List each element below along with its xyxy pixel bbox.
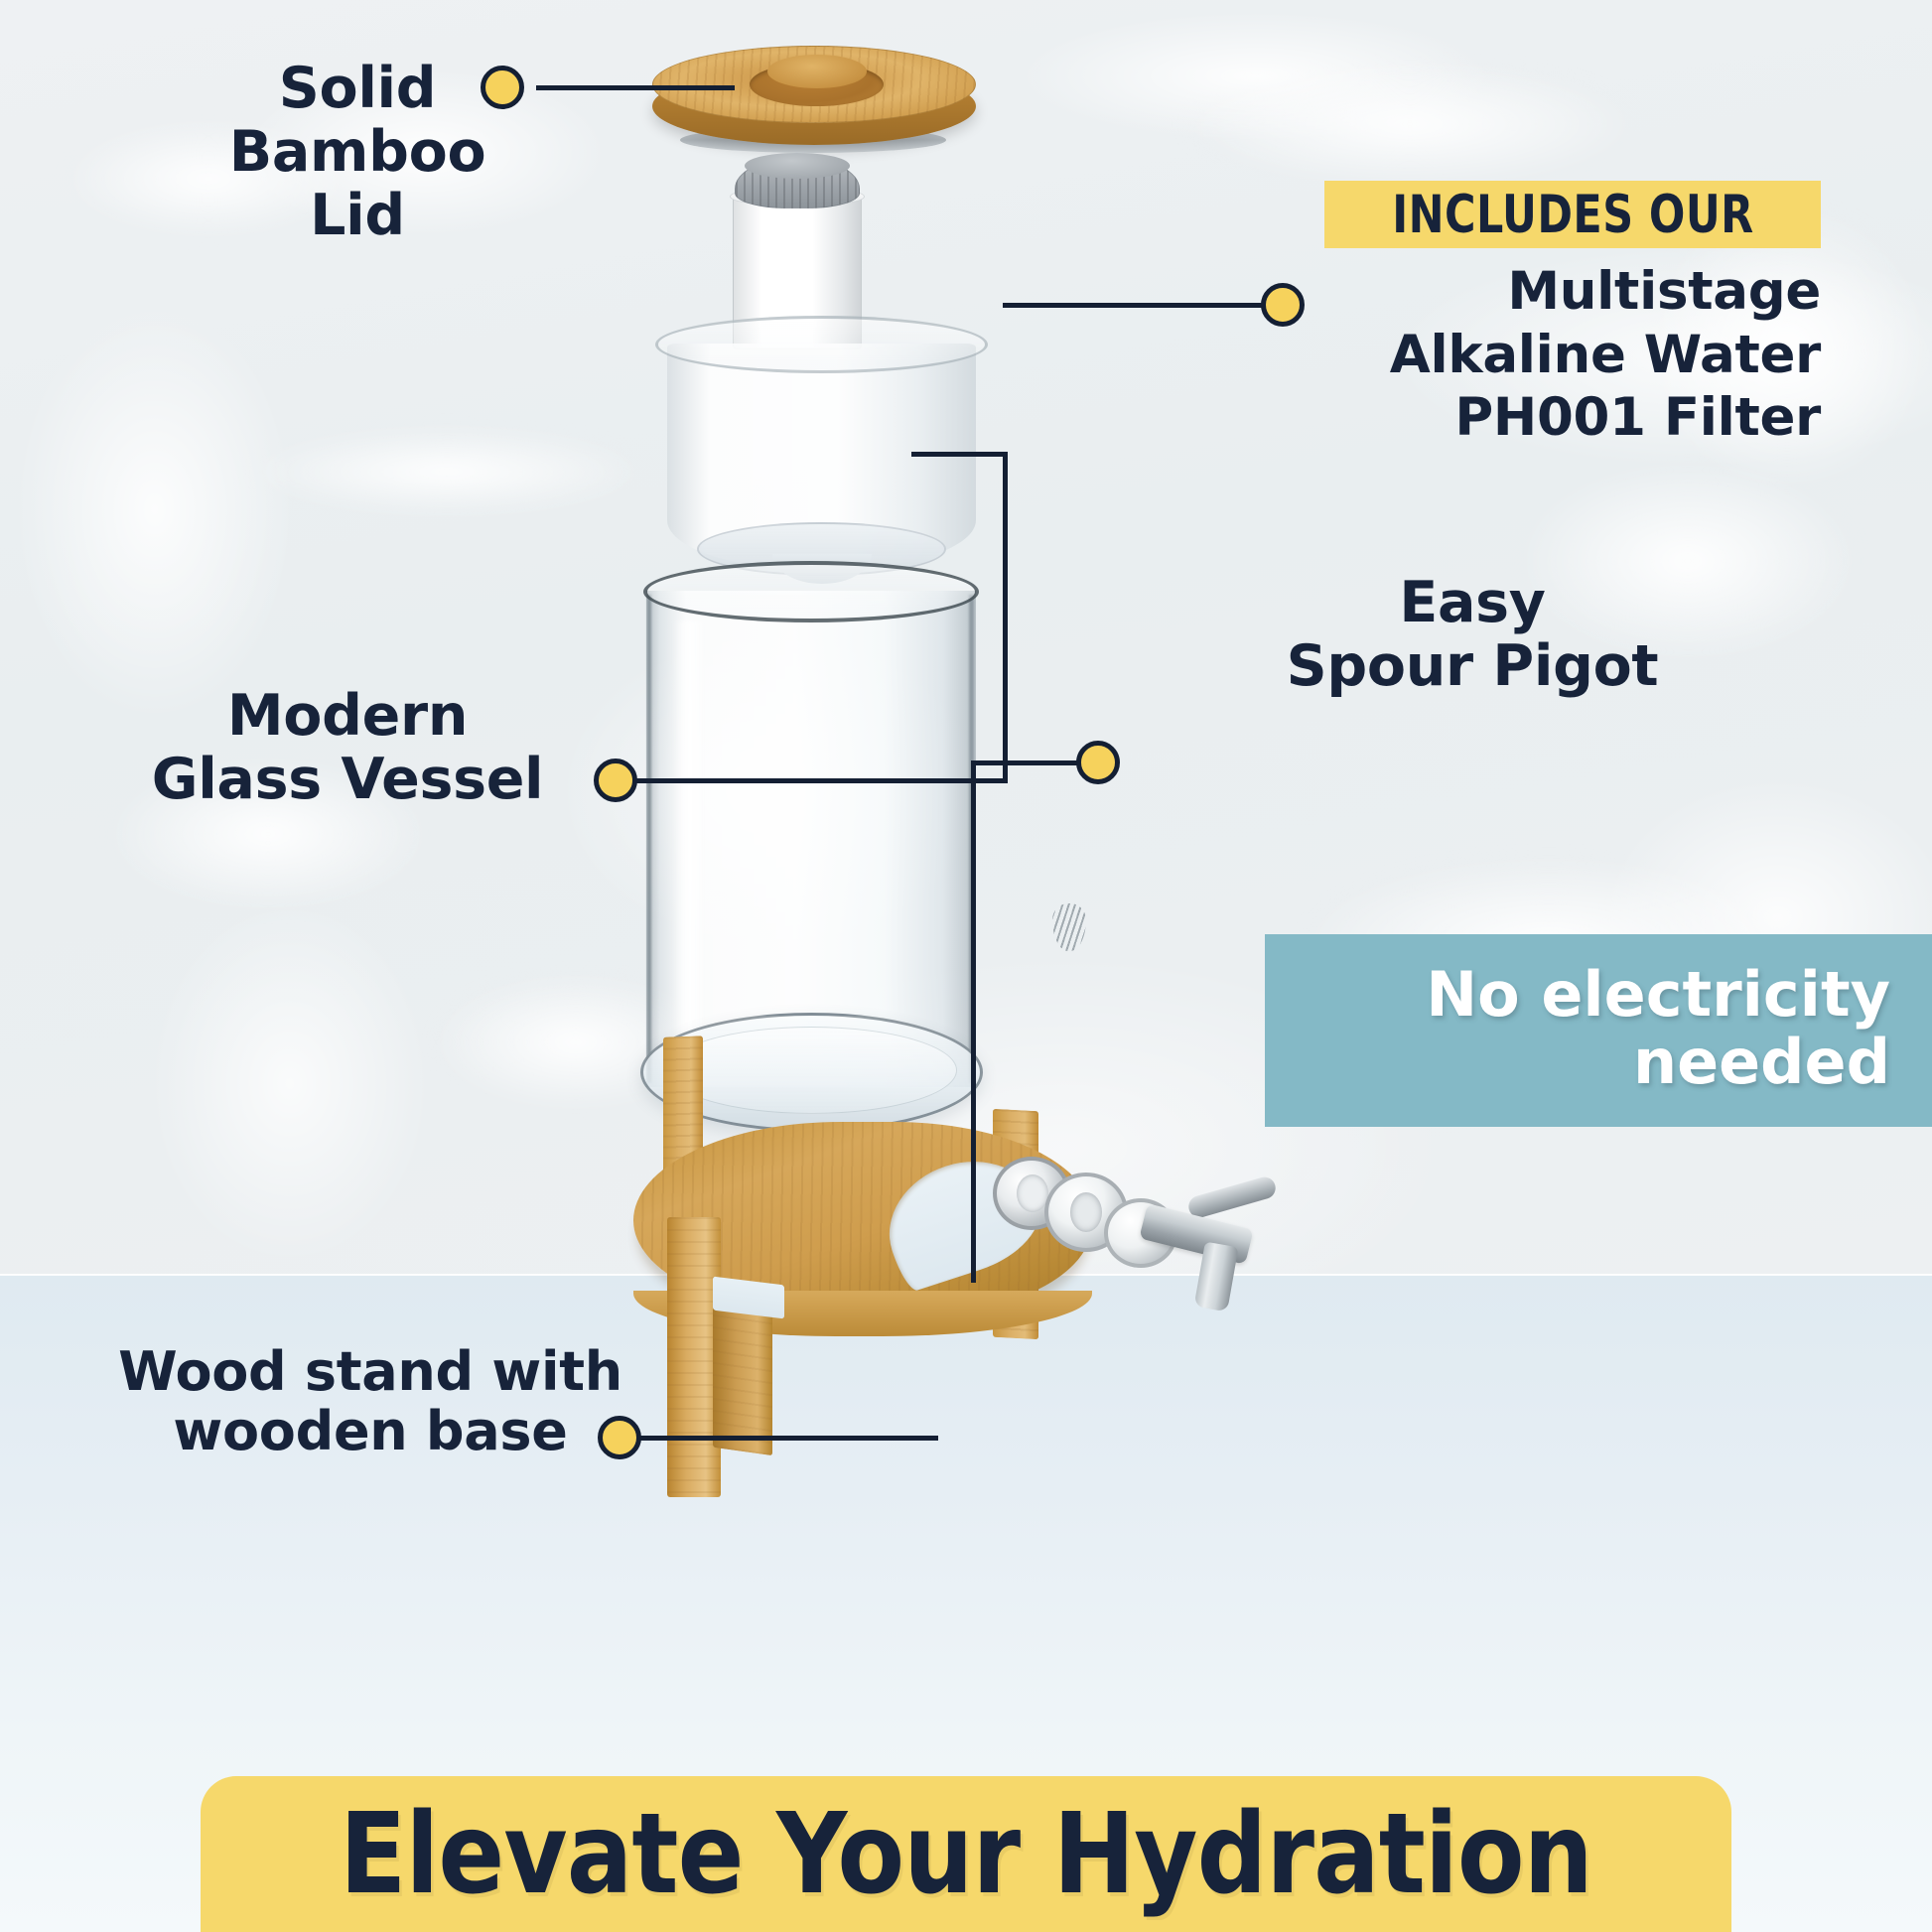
callout-bamboo-lid-line2: Lid — [149, 185, 566, 248]
product-infographic: Solid Bamboo Lid INCLUDES OUR Multistage… — [0, 0, 1932, 1932]
leader-line-wood-stand — [640, 1436, 938, 1441]
callout-spigot-line2: Spour Pigot — [1122, 635, 1823, 699]
callout-wood-stand-line2: wooden base — [117, 1402, 623, 1461]
includes-our-label: INCLUDES OUR — [1392, 185, 1753, 245]
callout-wood-stand-line1: Wood stand with — [117, 1342, 623, 1402]
callout-dot-bamboo-lid[interactable] — [481, 66, 524, 109]
filter-cap-top — [745, 153, 850, 179]
vessel-highlight — [673, 621, 707, 1037]
filter-description: Multistage Alkaline Water PH001 Filter — [1102, 260, 1821, 450]
no-electricity-line1: No electricity — [1426, 961, 1890, 1029]
leader-line-glass-vessel-horizontal — [635, 778, 1008, 783]
lid-knob — [767, 55, 867, 88]
spigot-part — [993, 1147, 1251, 1325]
callout-dot-wood-stand[interactable] — [598, 1416, 641, 1459]
spigot-ring-inner-hole — [1070, 1192, 1102, 1232]
water-drop-logo-icon — [1052, 903, 1086, 951]
vessel-edge-left — [647, 595, 651, 1083]
filter-line-1: Multistage — [1102, 260, 1821, 324]
leader-line-glass-vessel-top — [911, 452, 1008, 457]
no-electricity-line2: needed — [1426, 1029, 1890, 1096]
includes-our-badge: INCLUDES OUR — [1324, 181, 1821, 248]
callout-dot-glass-vessel[interactable] — [594, 759, 637, 802]
callout-label-spigot: Easy Spour Pigot — [1122, 572, 1823, 699]
footer-banner: Elevate Your Hydration — [201, 1776, 1731, 1932]
callout-glass-vessel-line2: Glass Vessel — [129, 749, 566, 812]
leader-line-bamboo-lid — [536, 85, 735, 90]
no-electricity-badge: No electricity needed — [1265, 934, 1932, 1127]
callout-label-glass-vessel: Modern Glass Vessel — [129, 685, 566, 812]
filter-line-3: PH001 Filter — [1102, 386, 1821, 450]
spigot-lever — [1186, 1174, 1279, 1220]
footer-headline: Elevate Your Hydration — [340, 1790, 1592, 1919]
callout-dot-spigot[interactable] — [1076, 741, 1120, 784]
leader-line-glass-vessel-vertical — [1003, 452, 1008, 783]
filter-line-2: Alkaline Water — [1102, 324, 1821, 387]
spigot-ring-outer-hole — [1017, 1174, 1048, 1212]
leader-line-spigot-vertical — [971, 760, 976, 1283]
bamboo-lid-part — [650, 42, 978, 151]
vessel-rim — [643, 561, 979, 622]
callout-glass-vessel-line1: Modern — [129, 685, 566, 749]
callout-label-wood-stand: Wood stand with wooden base — [117, 1342, 623, 1462]
bowl-rim — [655, 316, 988, 373]
callout-spigot-line1: Easy — [1122, 572, 1823, 635]
